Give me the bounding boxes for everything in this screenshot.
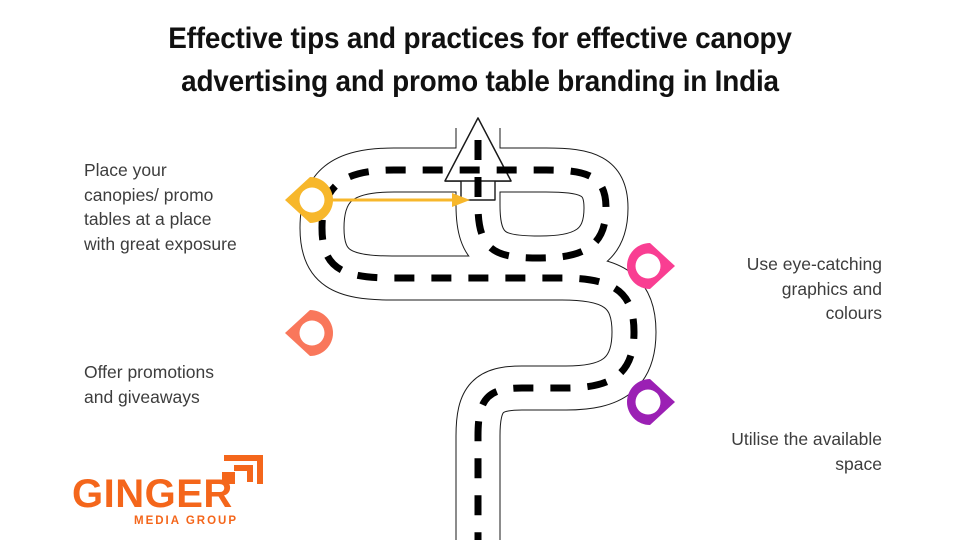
callout-1-line-3: tables at a place: [84, 207, 294, 232]
callout-text-1: Place your canopies/ promo tables at a p…: [84, 158, 294, 256]
callout-2-line-2: graphics and: [700, 277, 882, 302]
logo-wordmark: GINGER: [72, 474, 233, 514]
callout-1-line-2: canopies/ promo: [84, 183, 294, 208]
callout-4-line-2: space: [690, 452, 882, 477]
marker-pin-2[interactable]: [627, 243, 675, 289]
callout-1-line-4: with great exposure: [84, 232, 294, 257]
logo-tagline: MEDIA GROUP: [134, 516, 238, 528]
ginger-media-group-logo: GINGER MEDIA GROUP: [72, 446, 272, 530]
callout-text-2: Use eye-catching graphics and colours: [700, 252, 882, 326]
callout-2-line-3: colours: [700, 301, 882, 326]
callout-1-line-1: Place your: [84, 158, 294, 183]
callout-3-line-1: Offer promotions: [84, 360, 294, 385]
callout-text-3: Offer promotions and giveaways: [84, 360, 294, 409]
marker-pin-3[interactable]: [285, 310, 333, 356]
marker-pin-4[interactable]: [627, 379, 675, 425]
callout-text-4: Utilise the available space: [690, 427, 882, 476]
callout-4-line-1: Utilise the available: [690, 427, 882, 452]
infographic-canvas: Effective tips and practices for effecti…: [0, 0, 960, 540]
callout-3-line-2: and giveaways: [84, 385, 294, 410]
callout-2-line-1: Use eye-catching: [700, 252, 882, 277]
